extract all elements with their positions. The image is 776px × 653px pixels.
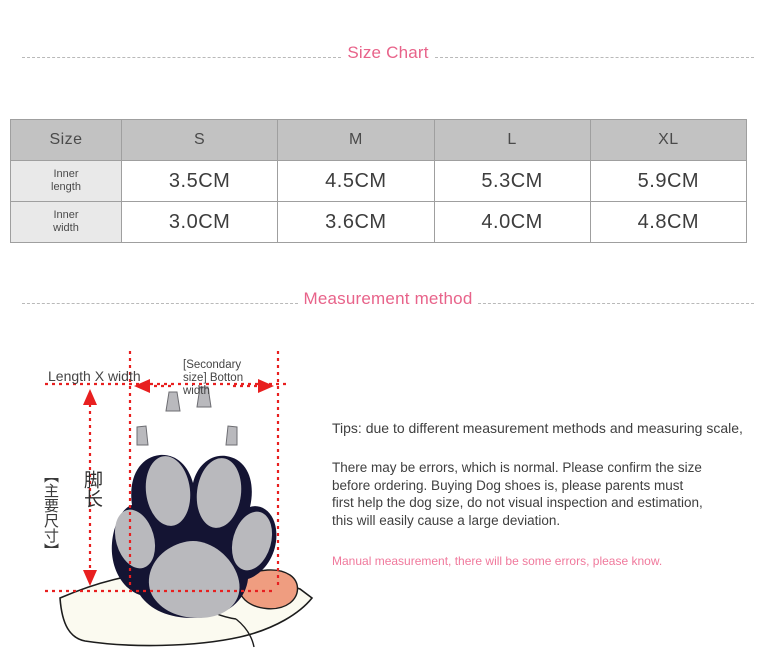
cell-inner-length-m: 4.5CM <box>278 161 434 202</box>
measurement-section-header: Measurement method <box>0 289 776 309</box>
cell-inner-length-l: 5.3CM <box>434 161 590 202</box>
arrowhead-right <box>258 379 274 393</box>
table-header-l: L <box>434 120 590 161</box>
cell-inner-width-l: 4.0CM <box>434 202 590 243</box>
table-header-m: M <box>278 120 434 161</box>
manual-measurement-note: Manual measurement, there will be some e… <box>332 553 732 569</box>
table-header-row: Size S M L XL <box>11 120 747 161</box>
dashed-rule-right <box>478 303 754 304</box>
arrowhead-down <box>83 570 97 586</box>
arrowhead-up <box>83 389 97 405</box>
table-row: Inner length 3.5CM 4.5CM 5.3CM 5.9CM <box>11 161 747 202</box>
tips-heading-line: Tips: due to different measurement metho… <box>332 419 776 437</box>
table-header-size: Size <box>11 120 122 161</box>
tips-paragraph: There may be errors, which is normal. Pl… <box>332 459 704 529</box>
size-chart-title: Size Chart <box>347 43 428 63</box>
measurement-title: Measurement method <box>304 289 473 309</box>
table-header-s: S <box>122 120 278 161</box>
row-label-inner-length: Inner length <box>11 161 122 202</box>
label-foot-length-cn: 脚长 <box>78 470 105 508</box>
table-row: Inner width 3.0CM 3.6CM 4.0CM 4.8CM <box>11 202 747 243</box>
label-length-x-width: Length X width <box>48 368 141 384</box>
dashed-rule-right <box>435 57 754 58</box>
size-chart-section-header: Size Chart <box>0 43 776 63</box>
cell-inner-width-s: 3.0CM <box>122 202 278 243</box>
dashed-rule-left <box>22 57 341 58</box>
cell-inner-width-xl: 4.8CM <box>590 202 746 243</box>
row-label-inner-width: Inner width <box>11 202 122 243</box>
cell-inner-width-m: 3.6CM <box>278 202 434 243</box>
cell-inner-length-xl: 5.9CM <box>590 161 746 202</box>
label-secondary-botton-width: [Secondary size] Botton width <box>183 359 243 398</box>
table-header-xl: XL <box>590 120 746 161</box>
cell-inner-length-s: 3.5CM <box>122 161 278 202</box>
label-main-size-cn: 【主要尺寸】 <box>40 468 61 558</box>
size-chart-table: Size S M L XL Inner length 3.5CM 4.5CM 5… <box>10 119 747 243</box>
dashed-rule-left <box>22 303 298 304</box>
